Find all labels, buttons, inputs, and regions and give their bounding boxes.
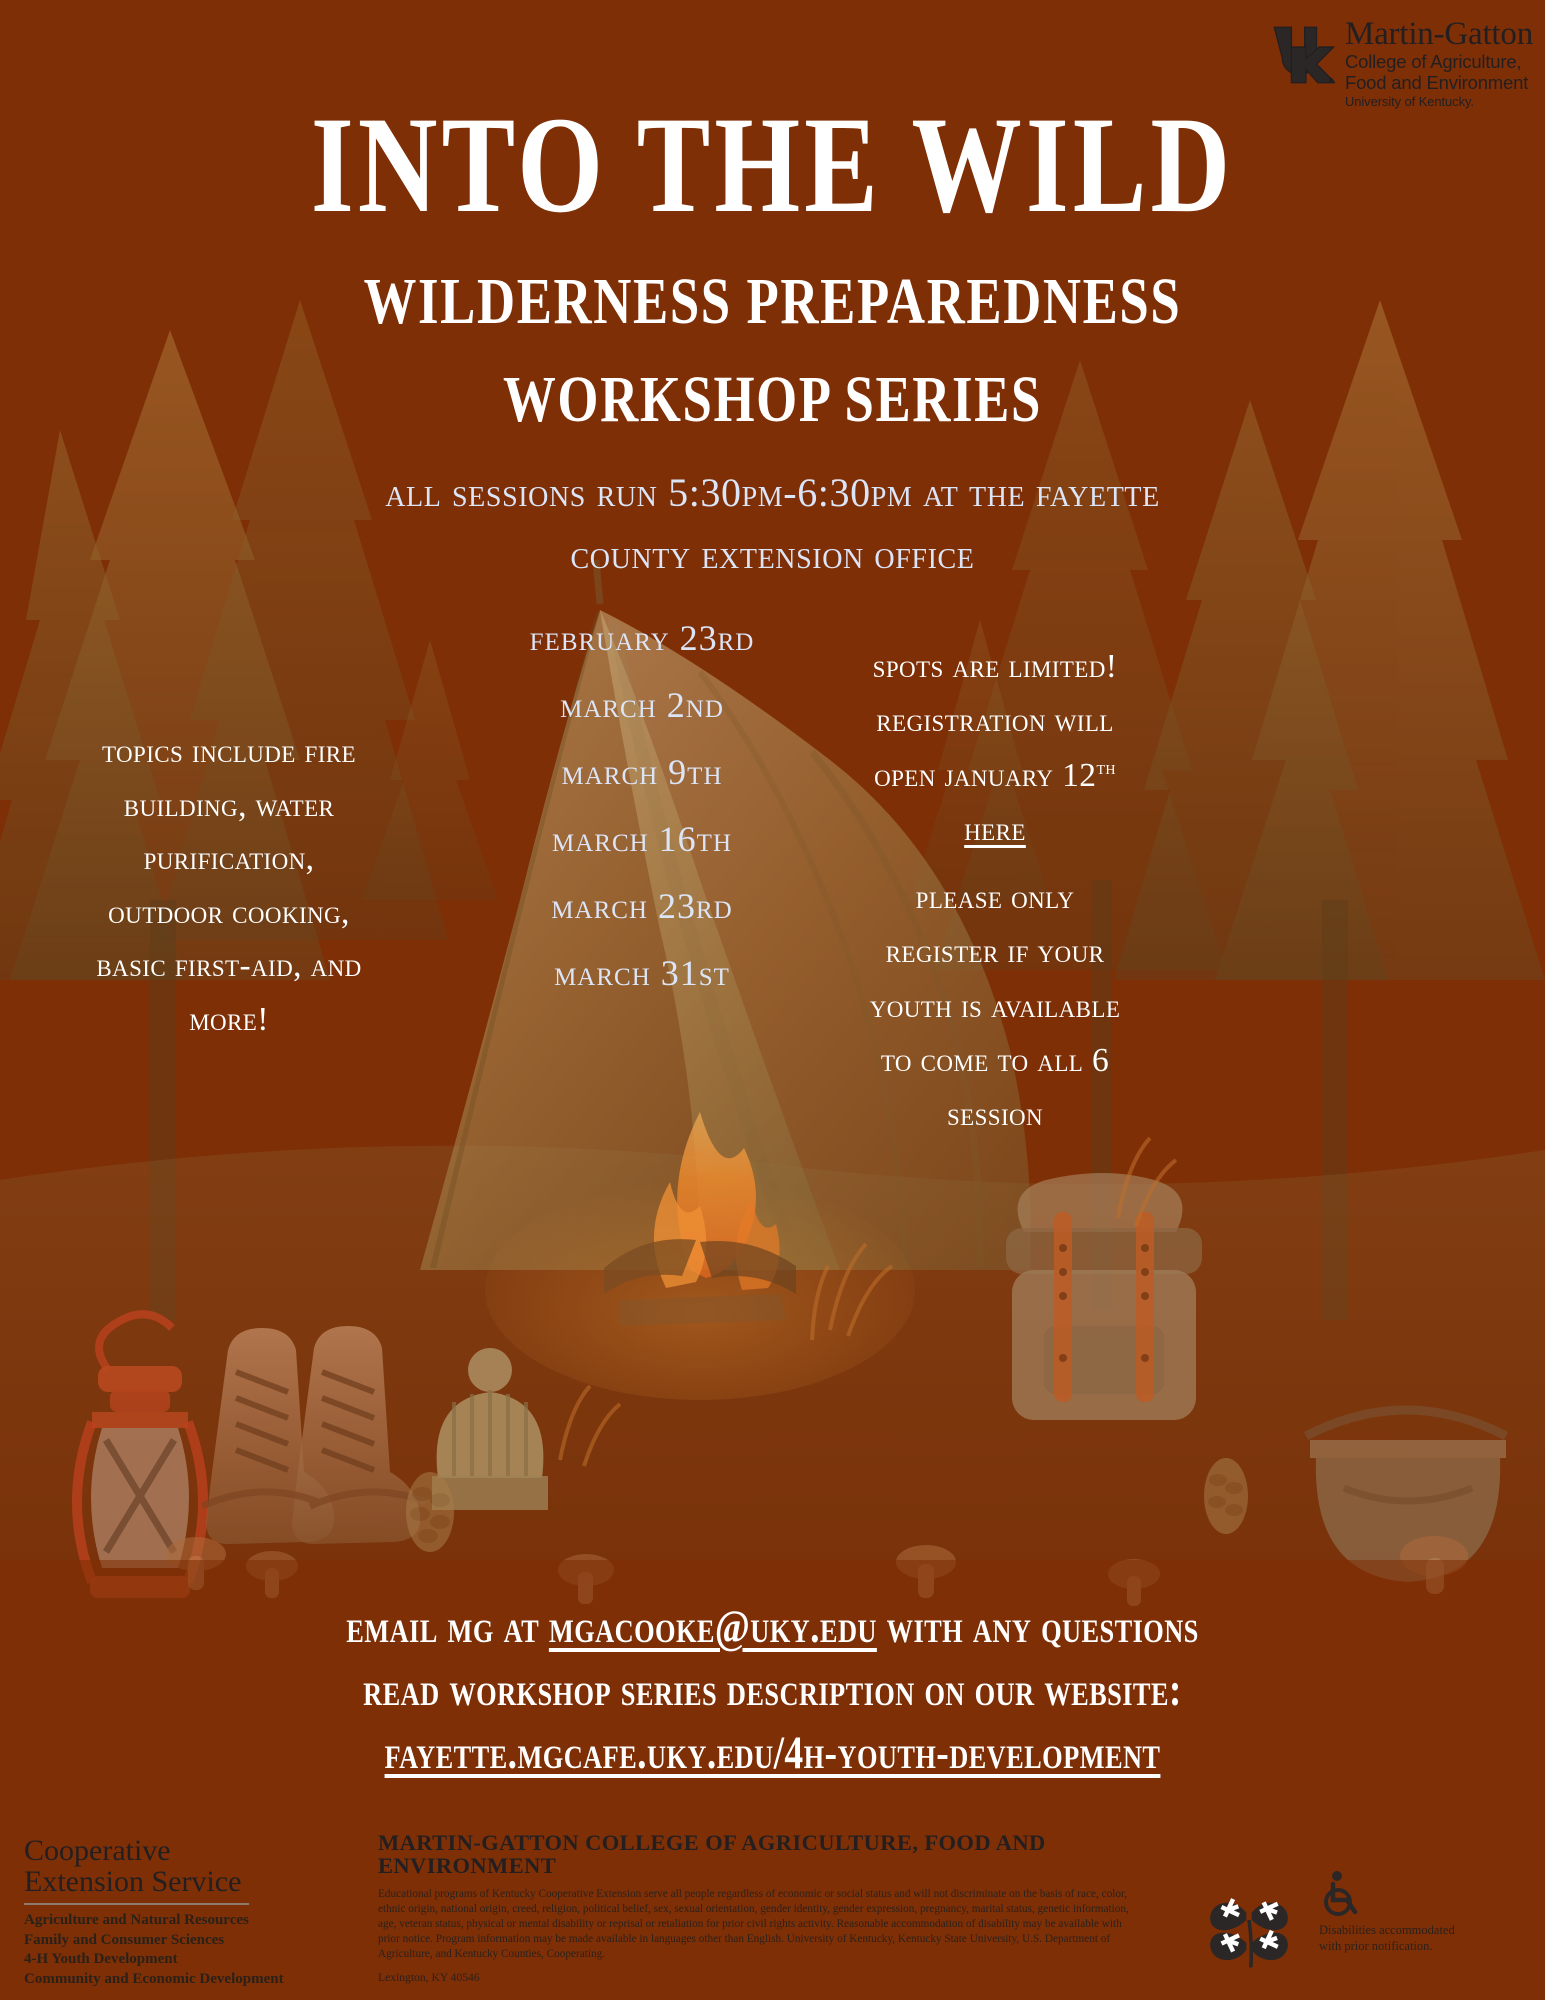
session-date: FEBRUARY 23RD [452,620,832,656]
website-url-link: FAYETTE.MGCAFE.UKY.EDU/4H-YOUTH-DEVELOPM… [155,1726,1391,1780]
session-dates-list: FEBRUARY 23RD MARCH 2ND MARCH 9TH MARCH … [452,620,832,1022]
registration-column: SPOTS ARE LIMITED! REGISTRATION WILL OPE… [810,640,1180,1142]
spots-limited-text: SPOTS ARE LIMITED! [810,640,1180,694]
website-url-text[interactable]: FAYETTE.MGCAFE.UKY.EDU/4H-YOUTH-DEVELOPM… [385,1727,1161,1779]
session-location-line: COUNTY EXTENSION OFFICE [78,524,1467,586]
wheelchair-accessibility-icon [1319,1870,1363,1918]
ces-program-area: Agriculture and Natural Resources [24,1911,284,1931]
attendance-note-line-1: PLEASE ONLY [810,871,1180,925]
poster-canvas: Martin-Gatton College of Agriculture, Fo… [0,0,1545,2000]
ces-title-line-2: Extension Service [24,1867,284,1898]
attendance-note-line-4: TO COME TO ALL 6 [810,1034,1180,1088]
cooperative-extension-service-block: Cooperative Extension Service Agricultur… [24,1836,284,1989]
session-time-line: ALL SESSIONS RUN 5:30PM-6:30PM AT THE FA… [78,462,1467,524]
register-here-link[interactable]: HERE [964,811,1026,848]
ces-program-area: Family and Consumer Sciences [24,1931,284,1951]
email-suffix-text: WITH ANY QUESTIONS [877,1601,1199,1653]
subtitle-line-1: WILDERNESS PREPAREDNESS [155,268,1391,335]
topics-line-4: OUTDOOR COOKING, [24,886,434,940]
session-date: MARCH 2ND [452,687,832,723]
session-time-location: ALL SESSIONS RUN 5:30PM-6:30PM AT THE FA… [78,462,1467,586]
registration-open-date: OPEN JANUARY 12 [874,757,1096,794]
topics-line-1: TOPICS INCLUDE FIRE [24,725,434,779]
logo-title: Martin-Gatton [1345,18,1533,51]
registration-link-wrapper: HERE [810,803,1180,857]
website-description-line: READ WORKSHOP SERIES DESCRIPTION ON OUR … [155,1663,1391,1717]
ordinal-suffix: TH [1096,757,1115,778]
topics-line-6: MORE! [24,993,434,1047]
attendance-note-line-2: REGISTER IF YOUR [810,925,1180,979]
logo-line-2: College of Agriculture, [1345,53,1533,72]
ces-divider [24,1903,249,1905]
uk-monogram-icon [1269,18,1335,84]
footer-badges: Disabilities accommodated with prior not… [1205,1870,1459,1970]
topics-line-5: BASIC FIRST-AID, AND [24,939,434,993]
page-title: INTO THE WILD [155,96,1391,234]
attendance-note-line-3: YOUTH IS AVAILABLE [810,980,1180,1034]
college-footer-heading: MARTIN-GATTON COLLEGE OF AGRICULTURE, FO… [378,1832,1168,1877]
ces-program-areas: Agriculture and Natural Resources Family… [24,1911,284,1989]
session-date: MARCH 16TH [452,821,832,857]
topics-line-2: BUILDING, WATER [24,779,434,833]
subtitle-line-2: WORKSHOP SERIES [155,366,1391,433]
topics-column: TOPICS INCLUDE FIRE BUILDING, WATER PURI… [24,725,434,1047]
email-prefix-text: EMAIL MG AT [346,1601,549,1653]
session-date: MARCH 31ST [452,955,832,991]
registration-open-line-2: OPEN JANUARY 12TH [810,749,1180,803]
uk-martin-gatton-logo: Martin-Gatton College of Agriculture, Fo… [1269,18,1533,108]
nondiscrimination-disclaimer: Educational programs of Kentucky Coopera… [378,1886,1144,1961]
ces-title-line-1: Cooperative [24,1836,284,1867]
accessibility-caption: Disabilities accommodated with prior not… [1319,1922,1459,1954]
session-date: MARCH 23RD [452,888,832,924]
4h-clover-icon [1205,1870,1293,1970]
accessibility-block: Disabilities accommodated with prior not… [1319,1870,1459,1954]
registration-open-line-1: REGISTRATION WILL [810,694,1180,748]
topics-line-3: PURIFICATION, [24,832,434,886]
attendance-note-line-5: SESSION [810,1088,1180,1142]
ces-program-area: 4-H Youth Development [24,1950,284,1970]
college-footer-block: MARTIN-GATTON COLLEGE OF AGRICULTURE, FO… [378,1832,1168,1984]
email-contact-line: EMAIL MG AT MGACOOKE@UKY.EDU WITH ANY QU… [155,1600,1391,1654]
logo-line-3: Food and Environment [1345,74,1533,93]
ces-program-area: Community and Economic Development [24,1970,284,1990]
session-date: MARCH 9TH [452,754,832,790]
email-address-link[interactable]: MGACOOKE@UKY.EDU [549,1601,877,1653]
footer-location-line: Lexington, KY 40546 [378,1971,1168,1984]
